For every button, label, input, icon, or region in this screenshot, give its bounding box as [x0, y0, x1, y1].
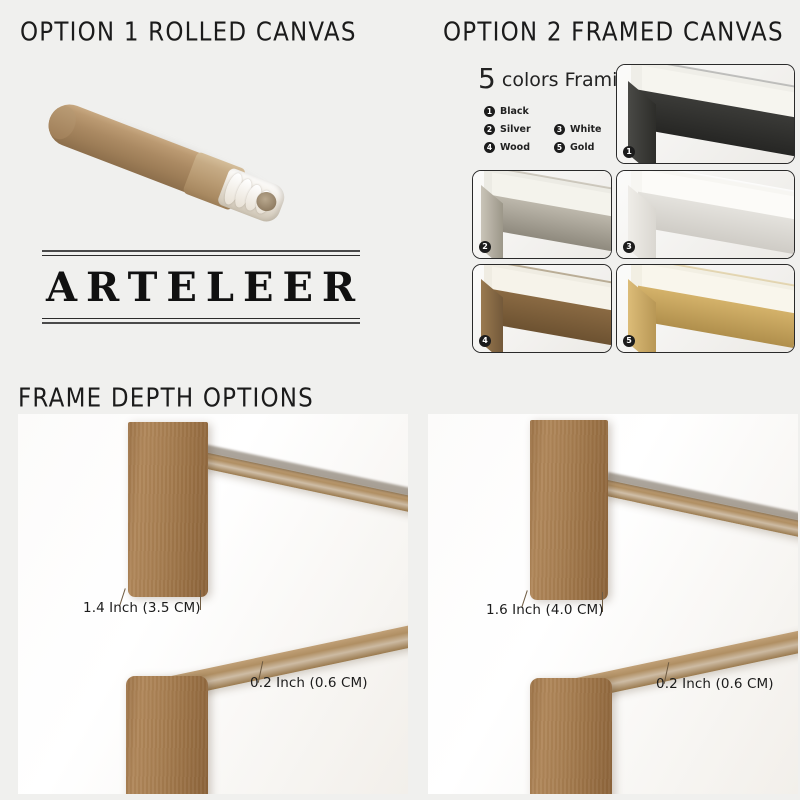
- legend-row: 1 Black: [484, 106, 634, 117]
- brand-name: ARTELEER: [42, 256, 360, 318]
- frame-swatch-gold[interactable]: 5: [616, 264, 795, 353]
- frame-swatch-wood[interactable]: 4: [472, 264, 612, 353]
- swatch-badge-3: 3: [623, 241, 635, 253]
- frame-corner-white: [617, 171, 794, 258]
- depth-dimension-label: 1.4 Inch (3.5 CM): [83, 600, 201, 616]
- option1-heading: OPTION 1 ROLLED CANVAS: [20, 18, 357, 47]
- legend-row: 2 Silver 3 White: [484, 124, 634, 135]
- option2-heading: OPTION 2 FRAMED CANVAS: [443, 18, 784, 47]
- swatch-badge-1: 1: [623, 146, 635, 158]
- depth-photo-1-4-inch: 1.4 Inch (3.5 CM) 0.2 Inch (0.6 CM): [18, 414, 408, 794]
- frame-swatch-white[interactable]: 3: [616, 170, 795, 259]
- legend-label-white: White: [570, 124, 601, 135]
- wall-background: [18, 414, 408, 794]
- frame-bottom-post: [126, 676, 208, 794]
- frame-corner-gold: [617, 265, 794, 352]
- legend-badge-3: 3: [554, 124, 565, 135]
- legend-badge-2: 2: [484, 124, 495, 135]
- legend-item-white: 3 White: [554, 124, 624, 135]
- legend-badge-1: 1: [484, 106, 495, 117]
- canvas-roll: [216, 167, 288, 226]
- legend-badge-5: 5: [554, 142, 565, 153]
- legend-badge-4: 4: [484, 142, 495, 153]
- logo-rule-bottom-2: [42, 322, 360, 324]
- legend-label-wood: Wood: [500, 142, 530, 153]
- depth-photo-1-6-inch: 1.6 Inch (4.0 CM) 0.2 Inch (0.6 CM): [428, 414, 798, 794]
- shipping-tube: [42, 98, 258, 214]
- legend-item-wood: 4 Wood: [484, 142, 554, 153]
- swatch-badge-5: 5: [623, 335, 635, 347]
- framing-options-panel: 5 colors Framing 1 Black 2 Silver 3 Whit…: [470, 62, 795, 354]
- product-info-graphic: OPTION 1 ROLLED CANVAS ARTELEER OPTION 2…: [0, 0, 800, 800]
- brand-logo: ARTELEER: [42, 250, 360, 324]
- frame-bottom-post: [530, 678, 612, 794]
- legend-label-gold: Gold: [570, 142, 594, 153]
- frame-swatch-black[interactable]: 1: [616, 64, 795, 164]
- legend-item-black: 1 Black: [484, 106, 554, 117]
- frame-corner-wood: [473, 265, 611, 352]
- frame-corner-black: [617, 65, 794, 163]
- frame-vertical-post: [530, 420, 608, 600]
- legend-item-silver: 2 Silver: [484, 124, 554, 135]
- legend-label-black: Black: [500, 106, 529, 117]
- frame-corner-silver: [473, 171, 611, 258]
- framing-count: 5: [478, 62, 496, 95]
- swatch-badge-4: 4: [479, 335, 491, 347]
- legend-label-silver: Silver: [500, 124, 531, 135]
- wall-background: [428, 414, 798, 794]
- legend-row: 4 Wood 5 Gold: [484, 142, 634, 153]
- color-legend: 1 Black 2 Silver 3 White 4 Wood: [484, 106, 634, 160]
- legend-item-gold: 5 Gold: [554, 142, 624, 153]
- thickness-dimension-label: 0.2 Inch (0.6 CM): [250, 675, 368, 691]
- frame-vertical-post: [128, 422, 208, 597]
- depth-dimension-label: 1.6 Inch (4.0 CM): [486, 602, 604, 618]
- frame-depth-heading: FRAME DEPTH OPTIONS: [18, 384, 314, 413]
- thickness-dimension-label: 0.2 Inch (0.6 CM): [656, 676, 774, 692]
- swatch-badge-2: 2: [479, 241, 491, 253]
- rolled-canvas-image: [45, 75, 305, 185]
- frame-swatch-silver[interactable]: 2: [472, 170, 612, 259]
